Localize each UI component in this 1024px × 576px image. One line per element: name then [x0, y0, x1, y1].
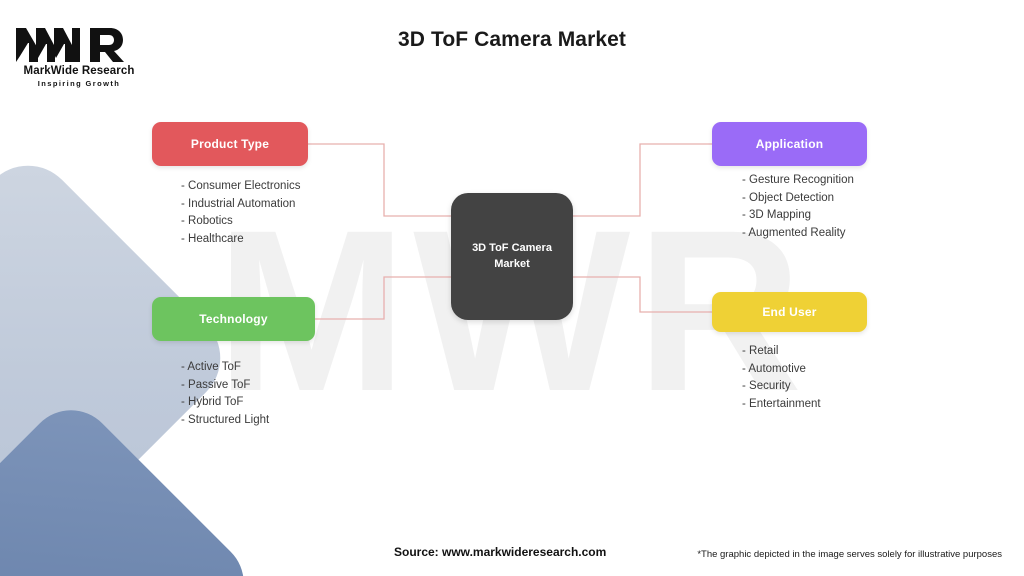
branch-items-technology: - Active ToF - Passive ToF - Hybrid ToF …: [181, 359, 269, 429]
source-label: Source: www.markwideresearch.com: [394, 545, 606, 559]
branch-node-end-user[interactable]: End User: [712, 292, 867, 332]
infographic-canvas: MWR MarkWide Research Inspiring Growth 3…: [0, 0, 1024, 576]
disclaimer-label: *The graphic depicted in the image serve…: [697, 549, 1002, 560]
list-item: - Gesture Recognition: [742, 172, 854, 190]
center-node[interactable]: 3D ToF Camera Market: [451, 193, 573, 320]
list-item: - Active ToF: [181, 359, 269, 377]
list-item: - Object Detection: [742, 190, 854, 208]
list-item: - Consumer Electronics: [181, 178, 301, 196]
brand-name: MarkWide Research: [14, 65, 144, 77]
page-title: 3D ToF Camera Market: [0, 28, 1024, 52]
center-node-label: 3D ToF Camera Market: [472, 241, 552, 273]
branch-node-technology[interactable]: Technology: [152, 297, 315, 341]
branch-items-end-user: - Retail - Automotive - Security - Enter…: [742, 343, 821, 413]
branch-label-product-type: Product Type: [191, 137, 269, 151]
list-item: - Robotics: [181, 213, 301, 231]
list-item: - Augmented Reality: [742, 225, 854, 243]
list-item: - Hybrid ToF: [181, 394, 269, 412]
branch-label-end-user: End User: [762, 305, 816, 319]
center-node-line1: 3D ToF Camera: [472, 242, 552, 254]
list-item: - 3D Mapping: [742, 207, 854, 225]
list-item: - Healthcare: [181, 231, 301, 249]
list-item: - Structured Light: [181, 412, 269, 430]
list-item: - Retail: [742, 343, 821, 361]
branch-node-application[interactable]: Application: [712, 122, 867, 166]
branch-items-application: - Gesture Recognition - Object Detection…: [742, 172, 854, 242]
list-item: - Entertainment: [742, 396, 821, 414]
list-item: - Passive ToF: [181, 377, 269, 395]
branch-label-technology: Technology: [199, 312, 267, 326]
list-item: - Industrial Automation: [181, 196, 301, 214]
branch-node-product-type[interactable]: Product Type: [152, 122, 308, 166]
branch-items-product-type: - Consumer Electronics - Industrial Auto…: [181, 178, 301, 248]
center-node-line2: Market: [494, 258, 529, 270]
list-item: - Security: [742, 378, 821, 396]
brand-tagline: Inspiring Growth: [14, 79, 144, 88]
list-item: - Automotive: [742, 361, 821, 379]
branch-label-application: Application: [756, 137, 824, 151]
